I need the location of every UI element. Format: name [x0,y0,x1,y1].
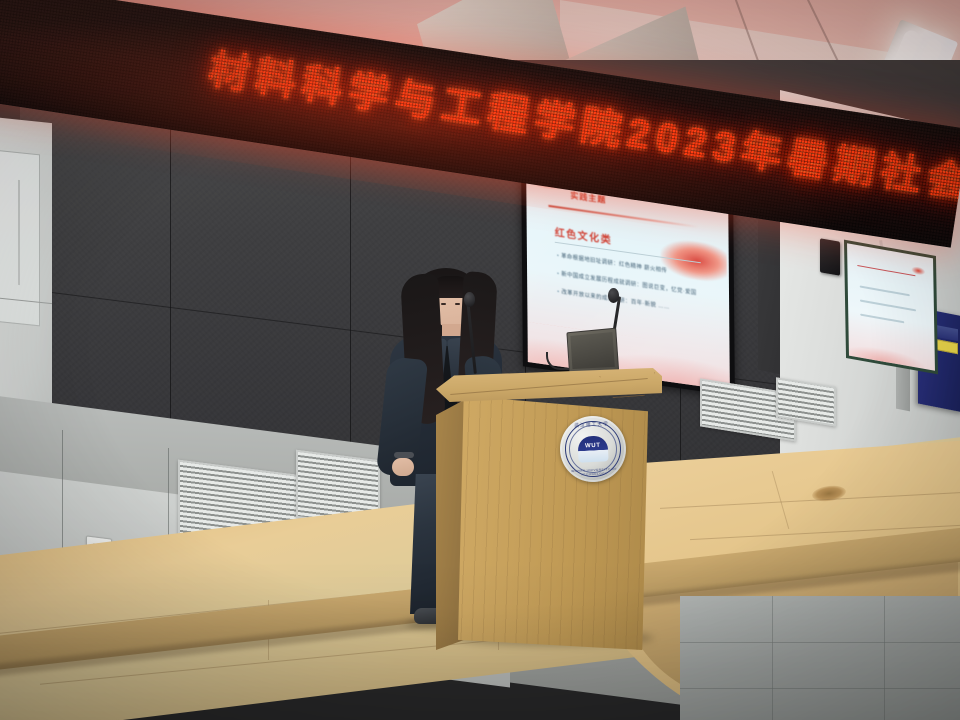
microphone-icon [608,288,619,303]
auditorium-scene: 实践主题 红色文化类 革命根据地旧址调研：红色精神 薪火相传 新中国成立发展历程… [0,0,960,720]
tiled-floor [680,596,960,720]
podium: 武汉理工大学 WUT WUHAN UNIVERSITY OF TECHNOLOG… [436,368,662,650]
hand-left [392,458,414,476]
laptop[interactable] [566,328,619,374]
secondary-display-rule [857,265,915,276]
left-wall-bracket [18,180,20,285]
microphone-icon [464,292,475,307]
wall-loudspeaker-icon [820,238,840,276]
seal-shield-icon: WUT [577,435,608,463]
seal-abbreviation: WUT [578,442,608,450]
secondary-display [844,240,938,375]
university-seal: 武汉理工大学 WUT WUHAN UNIVERSITY OF TECHNOLOG… [558,414,627,483]
slide-header-rule [548,205,698,228]
